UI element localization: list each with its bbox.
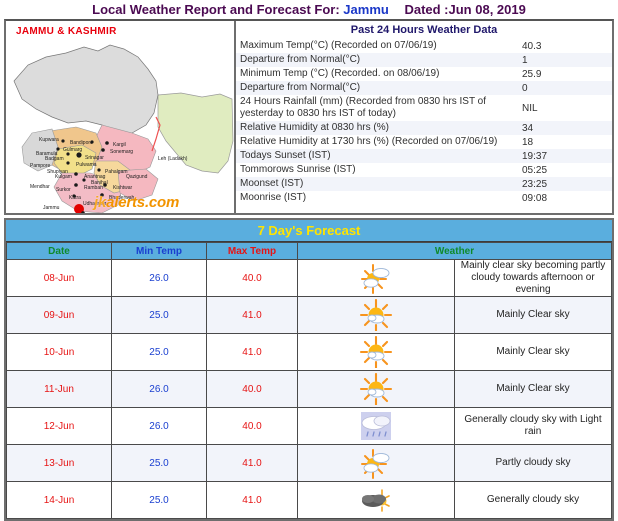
forecast-max-temp: 41.0 (207, 297, 298, 334)
forecast-row: 08-Jun26.040.0Mainly clear sky becoming … (7, 260, 612, 297)
dark-cloud-sun-icon-glyph (359, 484, 393, 516)
forecast-weather-text: Partly cloudy sky (455, 445, 612, 482)
forecast-max-temp: 40.0 (207, 408, 298, 445)
forecast-weather-text: Mainly Clear sky (455, 371, 612, 408)
map-label-mendhar: Mendhar (30, 184, 50, 190)
past-24-value: 1 (522, 55, 612, 66)
past-24-row: Relative Humidity at 0830 hrs (%)34 (236, 121, 612, 135)
forecast-max-temp: 40.0 (207, 260, 298, 297)
past-24-value: 23:25 (522, 179, 612, 190)
map-label-badgam: Badgam (45, 156, 64, 162)
past-24-row: Moonset (IST)23:25 (236, 177, 612, 191)
past-24-row: Minimum Temp (°C) (Recorded. on 08/06/19… (236, 67, 612, 81)
map-label-pulwama: Pulwama (76, 162, 97, 168)
map-label-kupwara: Kupwara (39, 137, 59, 143)
map-label-bandipore: Bandipore (70, 140, 93, 146)
forecast-header-row: Date Min Temp Max Temp Weather (7, 243, 612, 260)
map-label-ramban: Ramban (84, 185, 103, 191)
past-24-label: Departure from Normal(°C) (240, 54, 522, 66)
title-prefix: Local Weather Report and Forecast For: (92, 2, 340, 17)
map-label-katra: Katra (69, 195, 81, 201)
past-24-label: Relative Humidity at 0830 hrs (%) (240, 122, 522, 134)
sun-behind-cloud-icon-glyph (359, 262, 393, 294)
forecast-table-head: Date Min Temp Max Temp Weather (7, 243, 612, 260)
forecast-weather-text: Generally cloudy sky with Light rain (455, 408, 612, 445)
past-24-value: 34 (522, 123, 612, 134)
map-label-sonemarg: Sonemarg (110, 149, 133, 155)
forecast-min-temp: 26.0 (112, 260, 207, 297)
forecast-min-temp: 25.0 (112, 445, 207, 482)
forecast-max-temp: 41.0 (207, 445, 298, 482)
past-24-row: 24 Hours Rainfall (mm) (Recorded from 08… (236, 95, 612, 121)
forecast-weather-text: Mainly Clear sky (455, 297, 612, 334)
forecast-date: 12-Jun (7, 408, 112, 445)
past-24-value: 40.3 (522, 41, 612, 52)
sun-behind-cloud-icon (298, 260, 455, 297)
sun-small-cloud-icon (298, 371, 455, 408)
past-24-row: Departure from Normal(°C)1 (236, 53, 612, 67)
forecast-min-temp: 25.0 (112, 334, 207, 371)
map-title: JAMMU & KASHMIR (16, 26, 117, 37)
past-24-value: 18 (522, 137, 612, 148)
forecast-max-temp: 40.0 (207, 371, 298, 408)
past-24-row: Tommorows Sunrise (IST)05:25 (236, 163, 612, 177)
past-24-row: Moonrise (IST)09:08 (236, 191, 612, 205)
forecast-row: 14-Jun25.041.0Generally cloudy sky (7, 482, 612, 519)
past-24-label: Moonset (IST) (240, 178, 522, 190)
map-region-north (14, 45, 158, 133)
watermark-prefix: jk (94, 194, 106, 211)
column-header-weather: Weather (298, 243, 612, 260)
map-label-gulmarg: Gulmarg (63, 147, 82, 153)
past-24-label: Tommorows Sunrise (IST) (240, 164, 522, 176)
map-label-kulgam: Kulgam (55, 174, 72, 180)
sun-behind-cloud-icon-glyph (359, 447, 393, 479)
map-label-leh-ladakh: Leh (Ladakh) (158, 156, 187, 162)
past-24-hours-rows: Maximum Temp(°C) (Recorded on 07/06/19)4… (236, 39, 612, 205)
sun-small-cloud-icon-glyph (359, 373, 393, 405)
map-label-qazigund: Qazigund (126, 174, 147, 180)
forecast-max-temp: 41.0 (207, 482, 298, 519)
column-header-date: Date (7, 243, 112, 260)
seven-day-forecast-panel: 7 Day's Forecast Date Min Temp Max Temp … (4, 218, 614, 521)
forecast-date: 14-Jun (7, 482, 112, 519)
top-panel: JAMMU & KASHMIR (4, 19, 614, 215)
forecast-date: 08-Jun (7, 260, 112, 297)
forecast-row: 12-Jun26.040.0Generally cloudy sky with … (7, 408, 612, 445)
title-date: Dated :Jun 08, 2019 (404, 2, 525, 17)
past-24-row: Departure from Normal(°C)0 (236, 81, 612, 95)
watermark-suffix: alerts.com (106, 194, 179, 211)
map-label-surkor: Surkor (56, 187, 71, 193)
past-24-label: Todays Sunset (IST) (240, 150, 522, 162)
sun-small-cloud-icon-glyph (359, 336, 393, 368)
past-24-value: 25.9 (522, 69, 612, 80)
title-city: Jammu (343, 2, 389, 17)
column-header-max-temp: Max Temp (207, 243, 298, 260)
forecast-date: 09-Jun (7, 297, 112, 334)
past-24-value: 09:08 (522, 193, 612, 204)
past-24-row: Todays Sunset (IST)19:37 (236, 149, 612, 163)
forecast-max-temp: 41.0 (207, 334, 298, 371)
past-24-label: Departure from Normal(°C) (240, 82, 522, 94)
map-label-kargil: Kargil (113, 142, 126, 148)
map-label-pahalgam: Pahalgam (105, 169, 128, 175)
forecast-table: Date Min Temp Max Temp Weather 08-Jun26.… (6, 242, 612, 519)
forecast-row: 13-Jun25.041.0Partly cloudy sky (7, 445, 612, 482)
forecast-weather-text: Mainly clear sky becoming partly cloudy … (455, 260, 612, 297)
rain-cloud-icon-glyph (359, 410, 393, 442)
past-24-label: Minimum Temp (°C) (Recorded. on 08/06/19… (240, 68, 522, 80)
forecast-min-temp: 25.0 (112, 297, 207, 334)
forecast-min-temp: 26.0 (112, 408, 207, 445)
map-label-srinagar: Srinagar (85, 155, 104, 161)
sun-small-cloud-icon (298, 334, 455, 371)
page-title: Local Weather Report and Forecast For: J… (0, 0, 618, 19)
past-24-value: NIL (522, 103, 612, 114)
past-24-hours-title: Past 24 Hours Weather Data (236, 21, 612, 39)
rain-cloud-icon (298, 408, 455, 445)
dark-cloud-sun-icon (298, 482, 455, 519)
past-24-value: 05:25 (522, 165, 612, 176)
forecast-date: 11-Jun (7, 371, 112, 408)
site-watermark: jkalerts.com (94, 194, 179, 211)
past-24-label: Maximum Temp(°C) (Recorded on 07/06/19) (240, 40, 522, 52)
forecast-row: 10-Jun25.041.0Mainly Clear sky (7, 334, 612, 371)
jammu-kashmir-map: JAMMU & KASHMIR (6, 21, 236, 213)
forecast-row: 11-Jun26.040.0Mainly Clear sky (7, 371, 612, 408)
forecast-min-temp: 25.0 (112, 482, 207, 519)
past-24-row: Relative Humidity at 1730 hrs (%) (Recor… (236, 135, 612, 149)
past-24-label: Relative Humidity at 1730 hrs (%) (Recor… (240, 136, 522, 148)
forecast-weather-text: Generally cloudy sky (455, 482, 612, 519)
forecast-weather-text: Mainly Clear sky (455, 334, 612, 371)
forecast-title: 7 Day's Forecast (6, 220, 612, 242)
past-24-label: 24 Hours Rainfall (mm) (Recorded from 08… (240, 96, 522, 120)
sun-small-cloud-icon-glyph (359, 299, 393, 331)
past-24-label: Moonrise (IST) (240, 192, 522, 204)
forecast-min-temp: 26.0 (112, 371, 207, 408)
sun-small-cloud-icon (298, 297, 455, 334)
map-border-red (152, 117, 160, 151)
sun-behind-cloud-icon (298, 445, 455, 482)
column-header-min-temp: Min Temp (112, 243, 207, 260)
forecast-date: 10-Jun (7, 334, 112, 371)
forecast-row: 09-Jun25.041.0Mainly Clear sky (7, 297, 612, 334)
map-label-jammu: Jammu (43, 205, 59, 211)
past-24-hours-panel: Past 24 Hours Weather Data Maximum Temp(… (236, 21, 612, 213)
past-24-value: 19:37 (522, 151, 612, 162)
map-label-kishtwar: Kishtwar (113, 185, 132, 191)
weather-report-page: Local Weather Report and Forecast For: J… (0, 0, 618, 480)
past-24-row: Maximum Temp(°C) (Recorded on 07/06/19)4… (236, 39, 612, 53)
past-24-value: 0 (522, 83, 612, 94)
forecast-date: 13-Jun (7, 445, 112, 482)
